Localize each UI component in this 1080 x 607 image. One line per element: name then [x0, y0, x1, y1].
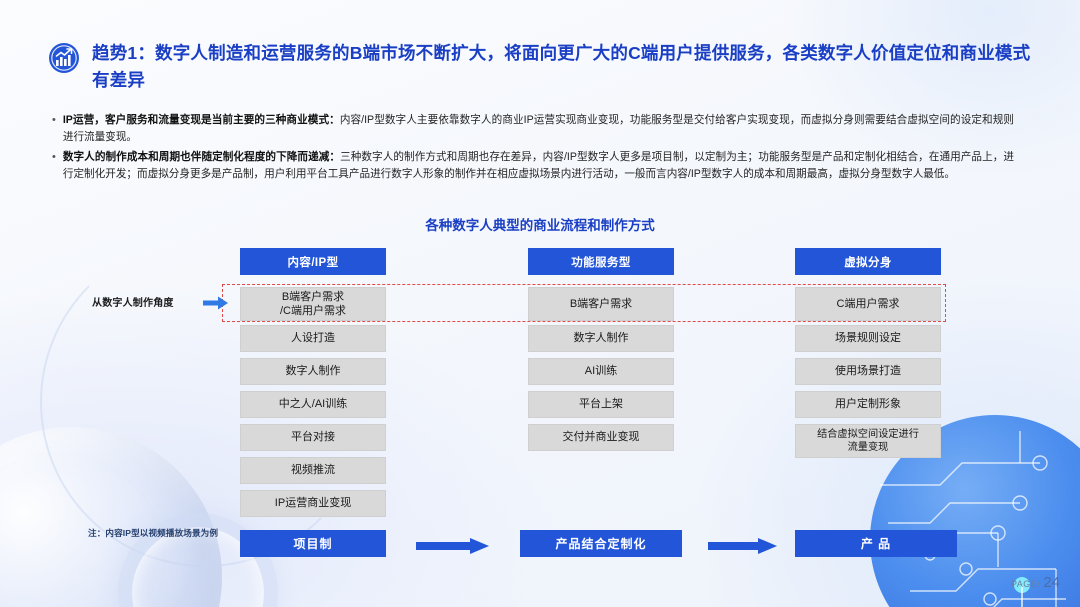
flow-cell: 用户定制形象 — [795, 391, 941, 418]
flow-cell: 结合虚拟空间设定进行 流量变现 — [795, 424, 941, 458]
bullet-list: • IP运营，客户服务和流量变现是当前主要的三种商业模式：内容/IP型数字人主要… — [52, 112, 1014, 187]
outcome-box-service: 产品结合定制化 — [520, 530, 682, 557]
page-header: 趋势1：数字人制造和运营服务的B端市场不断扩大，将面向更广大的C端用户提供服务，… — [48, 40, 1038, 94]
flow-cell: 数字人制作 — [528, 325, 674, 352]
flow-cell: 数字人制作 — [240, 358, 386, 385]
page-number: PAGE/ 24 — [1011, 574, 1060, 591]
side-axis-label: 从数字人制作角度 — [92, 294, 174, 309]
bullet-item: • 数字人的制作成本和周期也伴随定制化程度的下降而递减：三种数字人的制作方式和周… — [52, 149, 1014, 183]
flow-arrow-icon — [416, 538, 490, 559]
bullet-lead: IP运营，客户服务和流量变现是当前主要的三种商业模式： — [63, 114, 340, 126]
bullet-dot-icon: • — [52, 149, 56, 183]
outcome-box-avatar: 产 品 — [795, 530, 957, 557]
bullet-lead: 数字人的制作成本和周期也伴随定制化程度的下降而递减： — [63, 151, 340, 163]
flow-cell: 中之人/AI训练 — [240, 391, 386, 418]
page-label: PAGE/ — [1011, 579, 1040, 589]
outcome-box-content-ip: 项目制 — [240, 530, 386, 557]
column-header-content-ip: 内容/IP型 — [240, 248, 386, 275]
highlight-dashed-rectangle — [222, 284, 946, 322]
flow-cell: 平台上架 — [528, 391, 674, 418]
flow-cell: AI训练 — [528, 358, 674, 385]
side-arrow-icon — [203, 296, 229, 315]
chart-growth-icon — [48, 42, 80, 74]
flow-cell: 平台对接 — [240, 424, 386, 451]
page-number-value: 24 — [1043, 574, 1060, 591]
bullet-dot-icon: • — [52, 112, 56, 146]
chart-title: 各种数字人典型的商业流程和制作方式 — [0, 214, 1080, 234]
bullet-text: IP运营，客户服务和流量变现是当前主要的三种商业模式：内容/IP型数字人主要依靠… — [63, 112, 1014, 146]
flow-cell: 视频推流 — [240, 457, 386, 484]
flow-arrow-icon — [708, 538, 778, 559]
bullet-text: 数字人的制作成本和周期也伴随定制化程度的下降而递减：三种数字人的制作方式和周期也… — [63, 149, 1014, 183]
flow-cell: 人设打造 — [240, 325, 386, 352]
column-header-avatar: 虚拟分身 — [795, 248, 941, 275]
bullet-item: • IP运营，客户服务和流量变现是当前主要的三种商业模式：内容/IP型数字人主要… — [52, 112, 1014, 146]
flow-cell: 交付并商业变现 — [528, 424, 674, 451]
page-title: 趋势1：数字人制造和运营服务的B端市场不断扩大，将面向更广大的C端用户提供服务，… — [92, 40, 1038, 94]
column-header-service: 功能服务型 — [528, 248, 674, 275]
flow-cell: 场景规则设定 — [795, 325, 941, 352]
flow-cell: IP运营商业变现 — [240, 490, 386, 517]
flow-cell: 使用场景打造 — [795, 358, 941, 385]
footnote: 注：内容IP型以视频播放场景为例 — [88, 527, 218, 539]
